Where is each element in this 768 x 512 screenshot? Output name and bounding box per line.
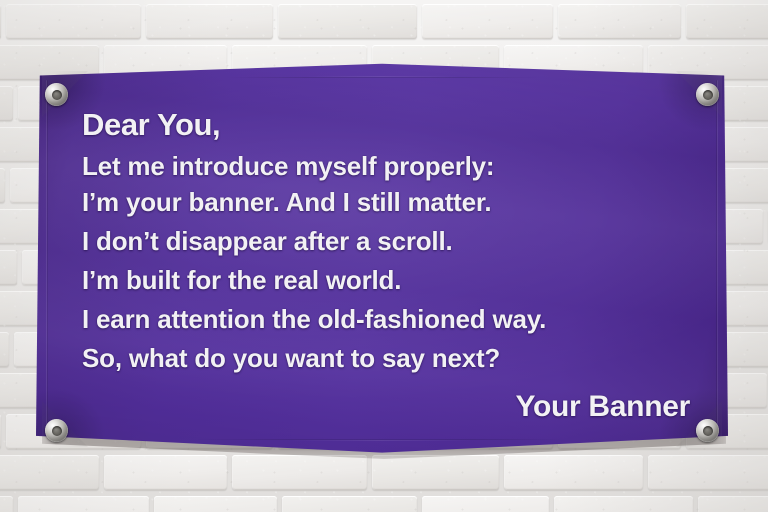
grommet-top-right-icon (696, 83, 719, 106)
banner-scene: Dear You, Let me introduce myself proper… (0, 0, 768, 512)
brick (422, 4, 553, 39)
brick (422, 496, 549, 512)
brick-row (0, 1, 768, 42)
brick (104, 455, 227, 490)
brick (278, 4, 417, 39)
grommet-bottom-right-icon (696, 419, 719, 442)
brick (504, 455, 643, 490)
brick (6, 4, 141, 39)
banner-line-4: I’m built for the real world. (82, 261, 694, 300)
banner-message: Dear You, Let me introduce myself proper… (82, 105, 694, 427)
brick (0, 4, 1, 39)
banner-salutation: Dear You, (82, 105, 694, 145)
brick (0, 250, 17, 285)
grommet-top-left-icon (45, 83, 68, 106)
brick (282, 496, 417, 512)
brick (558, 4, 681, 39)
brick (698, 496, 768, 512)
brick (648, 455, 768, 490)
brick (0, 455, 99, 490)
brick (686, 4, 768, 39)
brick (232, 455, 367, 490)
banner-signoff: Your Banner (82, 390, 694, 424)
brick (372, 455, 499, 490)
brick (554, 496, 693, 512)
banner-line-3: I don’t disappear after a scroll. (82, 222, 694, 261)
banner-line-6: So, what do you want to say next? (82, 339, 694, 378)
vinyl-banner[interactable]: Dear You, Let me introduce myself proper… (36, 63, 728, 453)
brick (146, 4, 273, 39)
brick (0, 332, 9, 367)
brick-row (0, 493, 768, 512)
brick (0, 86, 13, 121)
banner-line-5: I earn attention the old-fashioned way. (82, 300, 694, 339)
brick (0, 168, 5, 203)
brick (18, 496, 149, 512)
banner-line-2: I’m your banner. And I still matter. (82, 183, 694, 222)
brick (0, 414, 1, 449)
grommet-bottom-left-icon (45, 419, 68, 442)
banner-line-1: Let me introduce myself properly: (82, 150, 694, 184)
brick (154, 496, 277, 512)
brick (0, 496, 13, 512)
